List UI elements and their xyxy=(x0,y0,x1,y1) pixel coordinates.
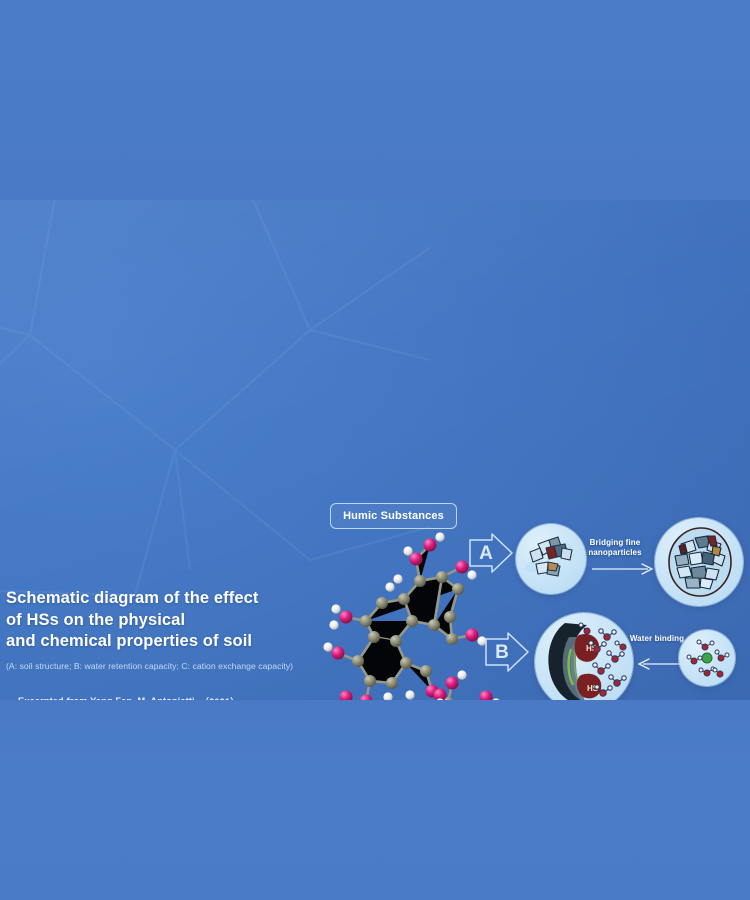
slide-canvas: Schematic diagram of the effect of HSs o… xyxy=(0,0,750,900)
circle-a-aggregated-particle xyxy=(655,518,743,606)
row-marker-a[interactable]: A xyxy=(468,533,514,573)
title-line-3: and chemical properties of soil xyxy=(6,631,346,653)
page-title: Schematic diagram of the effect of HSs o… xyxy=(6,588,346,653)
outer-top-band xyxy=(0,0,750,201)
arrow-a-label: Bridging fine nanoparticles xyxy=(578,538,652,558)
row-marker-b-letter: B xyxy=(489,632,515,672)
outer-bottom-band xyxy=(0,700,750,900)
row-marker-a-letter: A xyxy=(473,533,499,573)
attribution-row: — Excerpted from Yang Fan, M. Antonietti… xyxy=(6,694,346,701)
arrow-a-right xyxy=(592,562,654,576)
attribution-year: （2021） xyxy=(200,694,240,701)
circle-b-hydrated-cation xyxy=(679,630,735,686)
arrow-b-label: Water binding xyxy=(629,634,685,644)
row-marker-b[interactable]: B xyxy=(484,632,530,672)
title-subtitle: (A: soil structure; B: water retention c… xyxy=(6,660,346,672)
caption-block: Schematic diagram of the effect of HSs o… xyxy=(6,588,346,700)
arrow-b-left xyxy=(637,657,681,671)
title-line-1: Schematic diagram of the effect xyxy=(6,588,346,610)
title-line-2: of HSs on the physical xyxy=(6,610,346,632)
illustration-panel: Schematic diagram of the effect of HSs o… xyxy=(0,200,750,700)
circle-b-humic-coated-mineral: HS HS xyxy=(535,613,633,700)
circle-a-loose-minerals xyxy=(516,524,586,594)
humic-substances-label: Humic Substances xyxy=(343,510,444,522)
attribution-text: — Excerpted from Yang Fan, M. Antonietti xyxy=(6,696,195,701)
